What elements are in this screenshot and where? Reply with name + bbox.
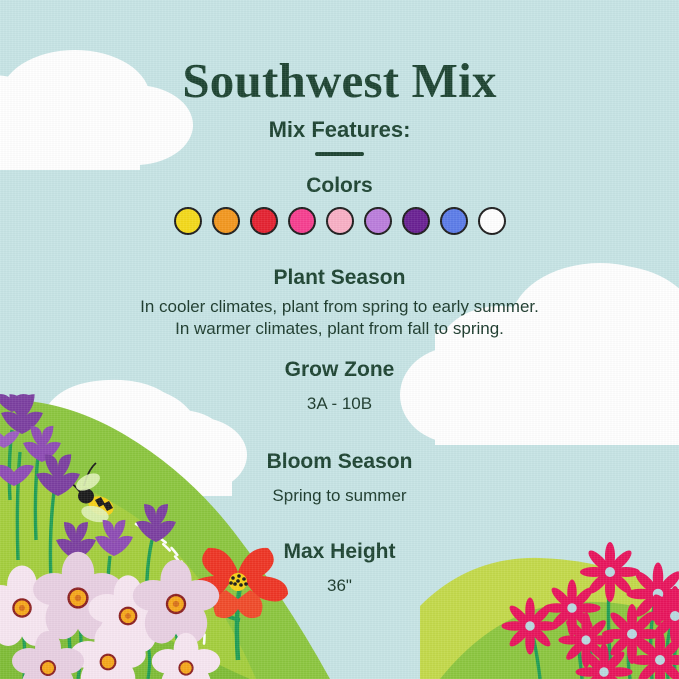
color-swatch-row (0, 207, 679, 235)
title-divider (315, 152, 364, 156)
bloom-season-value: Spring to summer (0, 485, 679, 507)
color-swatch-yellow (174, 207, 202, 235)
plant-season-line-2: In warmer climates, plant from fall to s… (0, 318, 679, 340)
mix-features-subtitle: Mix Features: (0, 117, 679, 143)
bloom-season-heading: Bloom Season (0, 450, 679, 474)
colors-heading: Colors (0, 174, 679, 198)
seed-packet-info-card: Southwest Mix Mix Features: Colors Plant… (0, 0, 679, 679)
max-height-heading: Max Height (0, 540, 679, 564)
plant-season-heading: Plant Season (0, 266, 679, 290)
info-content: Southwest Mix Mix Features: Colors Plant… (0, 0, 679, 679)
grow-zone-value: 3A - 10B (0, 393, 679, 415)
plant-season-body: In cooler climates, plant from spring to… (0, 296, 679, 340)
plant-season-line-1: In cooler climates, plant from spring to… (0, 296, 679, 318)
color-swatch-orange (212, 207, 240, 235)
color-swatch-hot-pink (288, 207, 316, 235)
color-swatch-orchid (364, 207, 392, 235)
max-height-value: 36" (0, 575, 679, 597)
grow-zone-heading: Grow Zone (0, 358, 679, 382)
color-swatch-red (250, 207, 278, 235)
page-title: Southwest Mix (0, 52, 679, 109)
color-swatch-white (478, 207, 506, 235)
color-swatch-light-pink (326, 207, 354, 235)
color-swatch-blue (440, 207, 468, 235)
color-swatch-purple (402, 207, 430, 235)
